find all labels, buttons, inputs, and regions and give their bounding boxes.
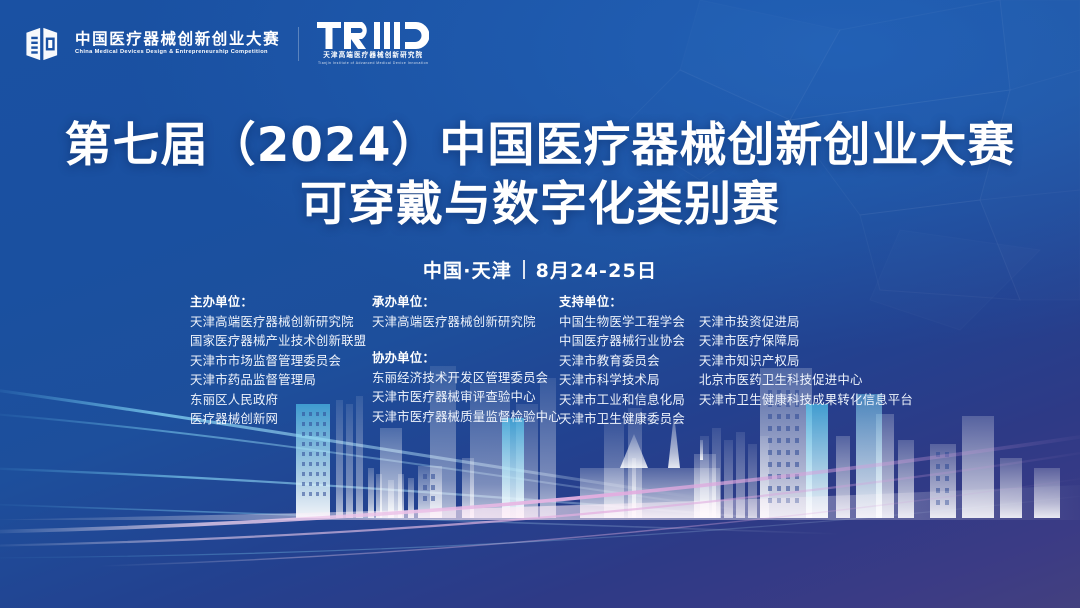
- org-item: 天津市卫生健康委员会: [559, 409, 685, 429]
- logo-divider: [298, 27, 299, 61]
- org-item: 天津市教育委员会: [559, 351, 685, 371]
- organizations-block: 主办单位： 天津高端医疗器械创新研究院 国家医疗器械产业技术创新联盟 天津市市场…: [190, 292, 913, 429]
- org-item: 天津市投资促进局: [699, 312, 913, 332]
- org-item: 国家医疗器械产业技术创新联盟: [190, 331, 372, 351]
- org-item: 天津高端医疗器械创新研究院: [372, 312, 559, 332]
- org-item: 天津市药品监督管理局: [190, 370, 372, 390]
- event-date: 8月24-25日: [536, 256, 658, 283]
- org-heading: 支持单位：: [559, 292, 685, 312]
- org-column-host: 主办单位： 天津高端医疗器械创新研究院 国家医疗器械产业技术创新联盟 天津市市场…: [190, 292, 372, 429]
- org-item: 天津市知识产权局: [699, 351, 913, 371]
- poster-background: 中国医疗器械创新创业大赛 China Medical Devices Desig…: [0, 0, 1080, 608]
- org-heading: 承办单位：: [372, 292, 559, 312]
- org-item: 北京市医药卫生科技促进中心: [699, 370, 913, 390]
- logo-institute-cn: 天津高端医疗器械创新研究院: [323, 53, 423, 60]
- header-logos: 中国医疗器械创新创业大赛 China Medical Devices Desig…: [24, 22, 429, 66]
- logo-competition: 中国医疗器械创新创业大赛 China Medical Devices Desig…: [24, 24, 280, 64]
- org-item: 天津市卫生健康科技成果转化信息平台: [699, 390, 913, 410]
- title-line-2: 可穿戴与数字化类别赛: [0, 175, 1080, 234]
- org-item: 天津市工业和信息化局: [559, 390, 685, 410]
- logo-institute: 天津高端医疗器械创新研究院 Tianjin Institute of Advan…: [317, 22, 429, 66]
- org-group-coorganizer: 协办单位： 东丽经济技术开发区管理委员会 天津市医疗器械审评查验中心 天津市医疗…: [372, 348, 559, 426]
- org-item: 天津市医疗器械质量监督检验中心: [372, 407, 559, 427]
- org-item: 天津高端医疗器械创新研究院: [190, 312, 372, 332]
- org-item: 天津市医疗器械审评查验中心: [372, 387, 559, 407]
- org-group-supporter-continued: 天津市投资促进局 天津市医疗保障局 天津市知识产权局 北京市医药卫生科技促进中心…: [699, 292, 913, 429]
- meta-separator: [523, 260, 525, 279]
- title-block: 第七届（2024）中国医疗器械创新创业大赛 可穿戴与数字化类别赛 中国·天津 8…: [0, 116, 1080, 283]
- org-item: 天津市科学技术局: [559, 370, 685, 390]
- org-item: 中国医疗器械行业协会: [559, 331, 685, 351]
- logo-institute-en: Tianjin Institute of Advanced Medical De…: [318, 62, 428, 65]
- org-item: 中国生物医学工程学会: [559, 312, 685, 332]
- org-heading: 协办单位：: [372, 348, 559, 368]
- title-line-1: 第七届（2024）中国医疗器械创新创业大赛: [0, 116, 1080, 175]
- org-item: 天津市市场监督管理委员会: [190, 351, 372, 371]
- org-group-supporter: 支持单位： 中国生物医学工程学会 中国医疗器械行业协会 天津市教育委员会 天津市…: [559, 292, 685, 429]
- org-item: 天津市医疗保障局: [699, 331, 913, 351]
- org-group-undertaker: 承办单位： 天津高端医疗器械创新研究院: [372, 292, 559, 331]
- trmid-wordmark-icon: [317, 22, 429, 49]
- event-meta: 中国·天津 8月24-25日: [0, 256, 1080, 283]
- logo-competition-en: China Medical Devices Design & Entrepren…: [75, 50, 284, 56]
- logo-competition-cn: 中国医疗器械创新创业大赛: [75, 32, 280, 48]
- org-item: 医疗器械创新网: [190, 409, 372, 429]
- org-column-supporter: 支持单位： 中国生物医学工程学会 中国医疗器械行业协会 天津市教育委员会 天津市…: [559, 292, 913, 429]
- org-item: 东丽经济技术开发区管理委员会: [372, 368, 559, 388]
- event-location: 中国·天津: [423, 256, 512, 283]
- org-column-undertaker: 承办单位： 天津高端医疗器械创新研究院 协办单位： 东丽经济技术开发区管理委员会…: [372, 292, 559, 429]
- org-group-host: 主办单位： 天津高端医疗器械创新研究院 国家医疗器械产业技术创新联盟 天津市市场…: [190, 292, 372, 429]
- open-book-door-icon: [24, 24, 66, 64]
- org-heading: 主办单位：: [190, 292, 372, 312]
- org-item: 东丽区人民政府: [190, 390, 372, 410]
